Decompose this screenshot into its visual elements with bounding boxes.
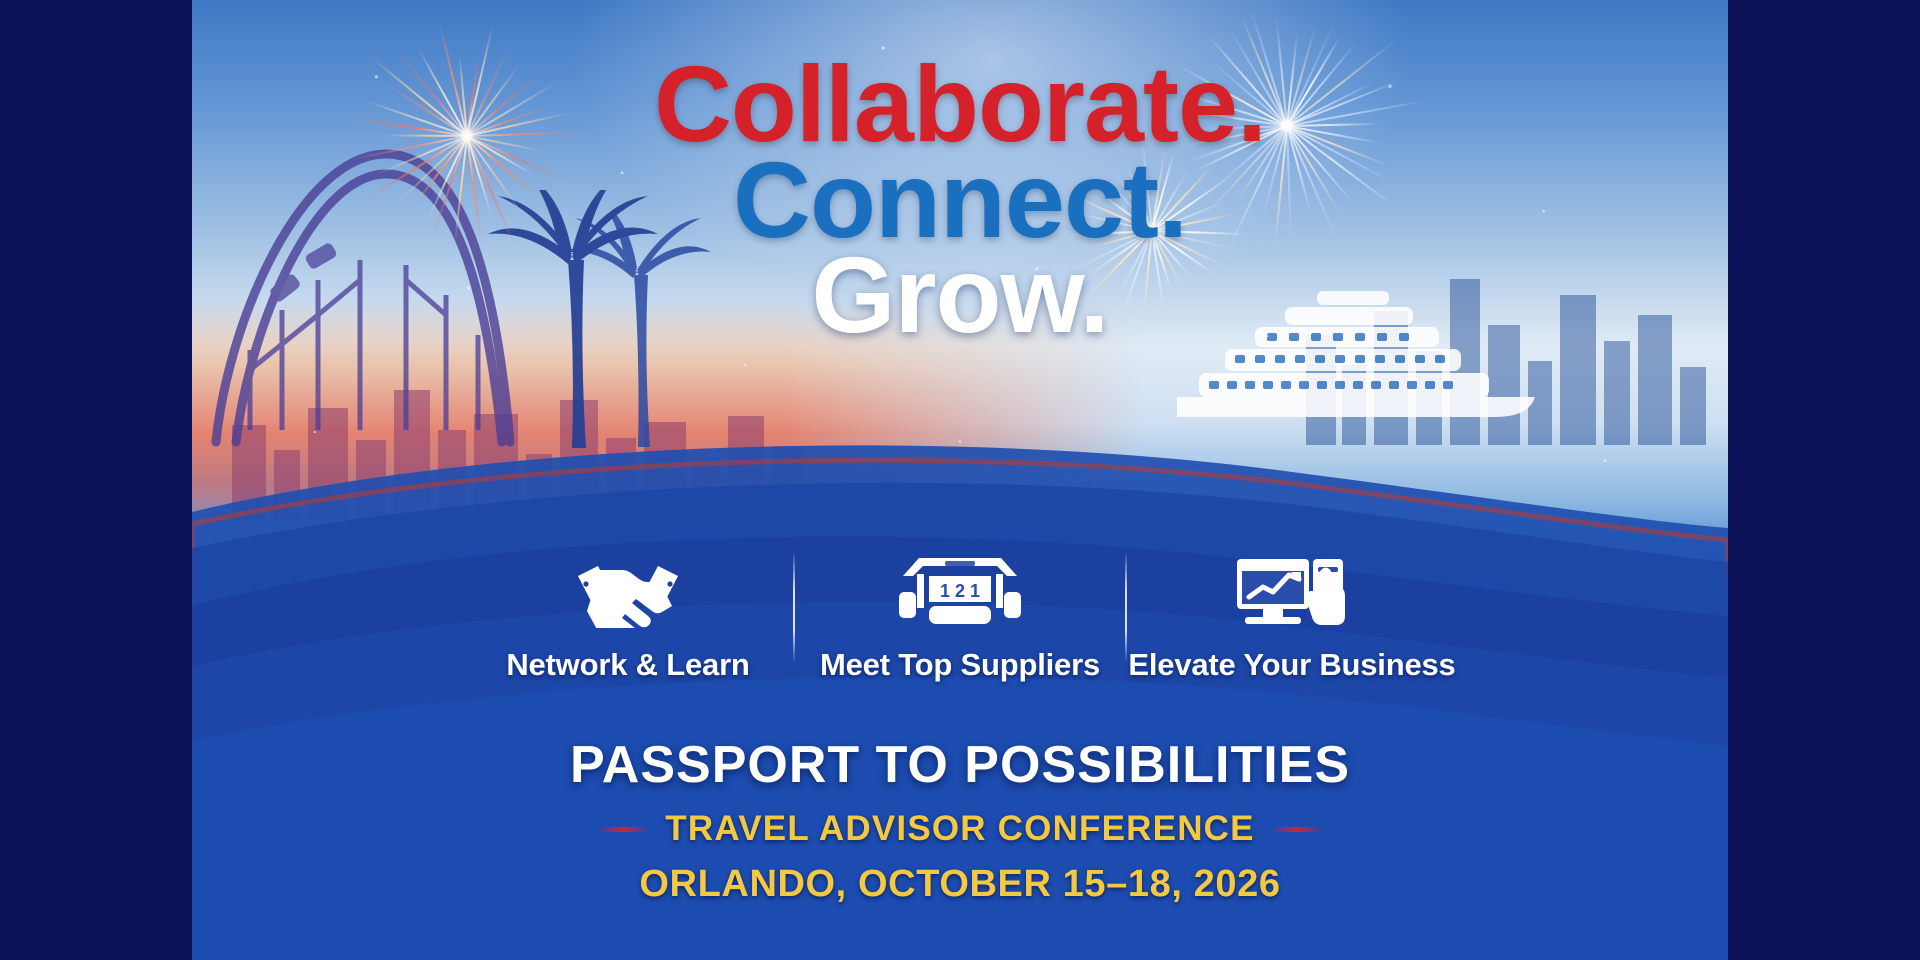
presentation-chart-icon — [1233, 545, 1351, 637]
booth-sign-text: 1 2 1 — [940, 581, 980, 601]
headline-block: Collaborate. Connect. Grow. — [192, 52, 1728, 347]
banner-artwork: Collaborate. Connect. Grow. — [192, 0, 1728, 960]
bottom-text-block: PASSPORT TO POSSIBILITIES TRAVEL ADVISOR… — [192, 735, 1728, 906]
conference-name-row: TRAVEL ADVISOR CONFERENCE — [192, 809, 1728, 849]
trade-show-booth-icon: 1 2 1 — [895, 545, 1025, 637]
dash-right-icon — [1271, 827, 1323, 832]
feature-row: Network & Learn — [192, 545, 1728, 683]
headline-line-3: Grow. — [192, 243, 1728, 347]
conference-name: TRAVEL ADVISOR CONFERENCE — [665, 809, 1254, 849]
feature-network-learn: Network & Learn — [463, 545, 793, 683]
handshake-icon — [574, 545, 682, 637]
conference-banner: Collaborate. Connect. Grow. — [0, 0, 1920, 960]
feature-elevate-business: Elevate Your Business — [1127, 545, 1457, 683]
feature-label: Elevate Your Business — [1128, 647, 1455, 683]
dash-left-icon — [597, 827, 649, 832]
feature-label: Network & Learn — [506, 647, 749, 683]
feature-label: Meet Top Suppliers — [820, 647, 1100, 683]
feature-meet-suppliers: 1 2 1 Meet Top Suppliers — [795, 545, 1125, 683]
location-date: ORLANDO, OCTOBER 15–18, 2026 — [192, 863, 1728, 906]
tagline: PASSPORT TO POSSIBILITIES — [192, 735, 1728, 795]
